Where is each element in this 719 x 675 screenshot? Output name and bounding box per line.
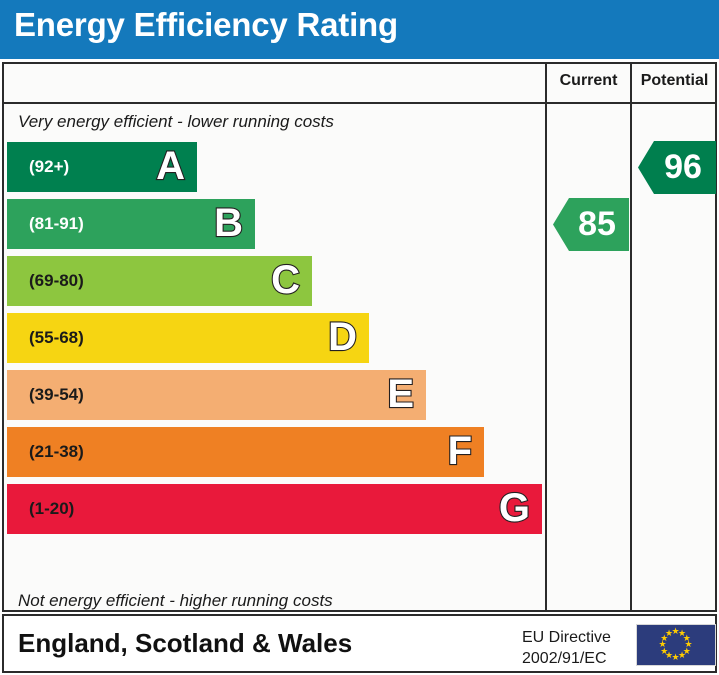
band-range-a: (92+) xyxy=(29,157,69,177)
band-letter-a: A xyxy=(156,146,185,186)
band-bar-e: (39-54)E xyxy=(7,370,426,420)
band-bar-g: (1-20)G xyxy=(7,484,542,534)
band-bar-b: (81-91)B xyxy=(7,199,255,249)
caption-top: Very energy efficient - lower running co… xyxy=(18,112,334,132)
header-divider xyxy=(4,102,715,104)
rating-badge-potential: 96 xyxy=(638,141,716,194)
chart-footer: England, Scotland & Wales EU Directive 2… xyxy=(2,614,717,673)
band-letter-e: E xyxy=(387,374,414,414)
band-bar-c: (69-80)C xyxy=(7,256,312,306)
band-range-c: (69-80) xyxy=(29,271,84,291)
region-label: England, Scotland & Wales xyxy=(18,628,352,659)
band-letter-d: D xyxy=(328,317,357,357)
column-divider-current xyxy=(545,64,547,610)
eu-directive-text: EU Directive 2002/91/EC xyxy=(522,627,611,669)
band-range-e: (39-54) xyxy=(29,385,84,405)
band-letter-c: C xyxy=(271,260,300,300)
column-divider-potential xyxy=(630,64,632,610)
band-letter-b: B xyxy=(214,203,243,243)
band-range-g: (1-20) xyxy=(29,499,74,519)
eu-flag-icon xyxy=(636,624,716,666)
energy-efficiency-rating-chart: Energy Efficiency Rating Current Potenti… xyxy=(0,0,719,675)
band-range-b: (81-91) xyxy=(29,214,84,234)
rating-badge-current: 85 xyxy=(553,198,629,251)
rating-table: Current Potential Very energy efficient … xyxy=(2,62,717,612)
band-range-f: (21-38) xyxy=(29,442,84,462)
band-bar-f: (21-38)F xyxy=(7,427,484,477)
column-header-current: Current xyxy=(547,72,630,90)
band-bars: (92+)A(81-91)B(69-80)C(55-68)D(39-54)E(2… xyxy=(4,142,543,588)
band-bar-a: (92+)A xyxy=(7,142,197,192)
caption-bottom: Not energy efficient - higher running co… xyxy=(18,591,333,611)
band-bar-d: (55-68)D xyxy=(7,313,369,363)
band-letter-f: F xyxy=(448,431,472,471)
band-letter-g: G xyxy=(499,488,530,528)
column-header-potential: Potential xyxy=(632,72,717,90)
chart-header-banner: Energy Efficiency Rating xyxy=(0,0,719,59)
page-title: Energy Efficiency Rating xyxy=(14,6,398,44)
eu-directive-line2: 2002/91/EC xyxy=(522,648,611,669)
eu-directive-line1: EU Directive xyxy=(522,627,611,648)
band-range-d: (55-68) xyxy=(29,328,84,348)
